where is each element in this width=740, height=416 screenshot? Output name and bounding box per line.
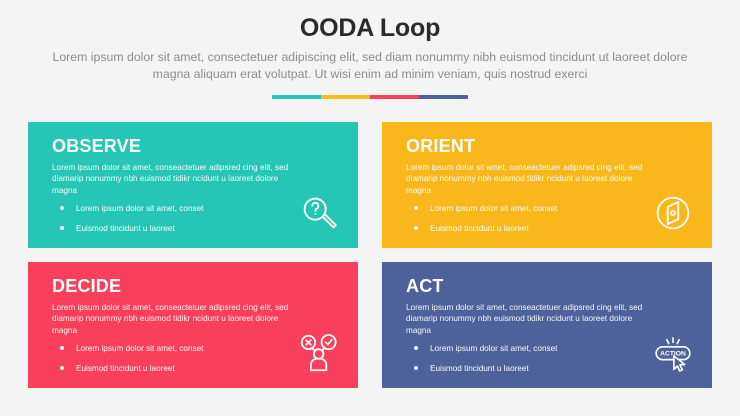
ooda-loop-infographic: OODA Loop Lorem ipsum dolor sit amet, co… (0, 0, 740, 416)
cards-grid: OBSERVE Lorem ipsum dolor sit amet, cons… (28, 122, 712, 388)
divider-segment-observe (272, 95, 321, 99)
magnifier-question-icon (296, 190, 342, 236)
card-description: Lorem ipsum dolor sit amet, conseactetue… (52, 162, 292, 196)
card-orient[interactable]: ORIENT Lorem ipsum dolor sit amet, conse… (382, 122, 712, 248)
divider-segment-act (419, 95, 468, 99)
card-title: DECIDE (52, 275, 338, 297)
card-title: ORIENT (406, 135, 692, 157)
color-divider (272, 95, 468, 99)
action-click-icon: ACTION (650, 330, 696, 376)
compass-icon (650, 190, 696, 236)
page-title: OODA Loop (0, 13, 740, 43)
card-description: Lorem ipsum dolor sit amet, conseactetue… (406, 302, 646, 336)
person-choice-icon (296, 330, 342, 376)
page-subtitle: Lorem ipsum dolor sit amet, consectetuer… (50, 49, 690, 83)
card-description: Lorem ipsum dolor sit amet, conseactetue… (52, 302, 292, 336)
divider-segment-decide (370, 95, 419, 99)
card-decide[interactable]: DECIDE Lorem ipsum dolor sit amet, conse… (28, 262, 358, 388)
card-description: Lorem ipsum dolor sit amet, conseactetue… (406, 162, 646, 196)
card-observe[interactable]: OBSERVE Lorem ipsum dolor sit amet, cons… (28, 122, 358, 248)
card-act[interactable]: ACT Lorem ipsum dolor sit amet, conseact… (382, 262, 712, 388)
card-title: ACT (406, 275, 692, 297)
header: OODA Loop Lorem ipsum dolor sit amet, co… (0, 0, 740, 99)
card-title: OBSERVE (52, 135, 338, 157)
divider-segment-orient (321, 95, 370, 99)
